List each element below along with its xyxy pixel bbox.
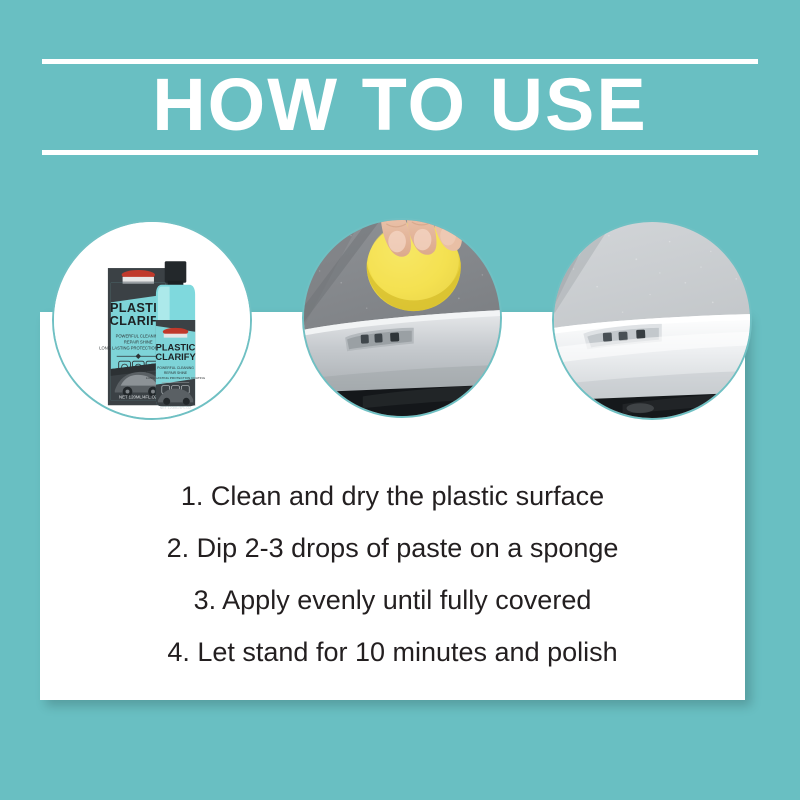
header-rule-bottom — [42, 150, 758, 155]
instruction-step-3: 3. Apply evenly until fully covered — [40, 574, 745, 626]
svg-text:POWERFUL CLEANING: POWERFUL CLEANING — [157, 366, 194, 370]
polished-result-photo — [552, 220, 752, 420]
svg-text:PLASTIC: PLASTIC — [156, 342, 196, 352]
box-net-content: NET 120ML/4FL.OZ — [119, 394, 158, 399]
product-packaging-illustration: PLASTIC CLARIFY POWERFUL CLEANING REPAIR… — [54, 222, 250, 418]
svg-text:POWERFUL CLEANING: POWERFUL CLEANING — [116, 334, 161, 339]
instruction-step-1: 1. Clean and dry the plastic surface — [40, 470, 745, 522]
instruction-step-4: 4. Let stand for 10 minutes and polish — [40, 626, 745, 678]
svg-text:LONG LASTING PROTECTION COATIN: LONG LASTING PROTECTION COATING — [146, 376, 206, 380]
how-to-use-infographic: HOW TO USE — [0, 0, 800, 800]
instruction-list: 1. Clean and dry the plastic surface 2. … — [40, 470, 745, 678]
sponge-application-photo — [302, 218, 502, 418]
polished-result-illustration — [554, 222, 750, 418]
svg-text:NET 120ML/4FL.OZ: NET 120ML/4FL.OZ — [160, 406, 192, 410]
product-packaging-photo: PLASTIC CLARIFY POWERFUL CLEANING REPAIR… — [52, 220, 252, 420]
svg-text:REPAIR SHINE: REPAIR SHINE — [164, 371, 188, 375]
sponge-application-illustration — [304, 220, 500, 416]
svg-text:REPAIR SHINE: REPAIR SHINE — [124, 340, 153, 345]
svg-text:CLARIFY: CLARIFY — [155, 352, 196, 362]
page-title: HOW TO USE — [0, 60, 800, 150]
instruction-step-2: 2. Dip 2-3 drops of paste on a sponge — [40, 522, 745, 574]
header: HOW TO USE — [0, 0, 800, 190]
